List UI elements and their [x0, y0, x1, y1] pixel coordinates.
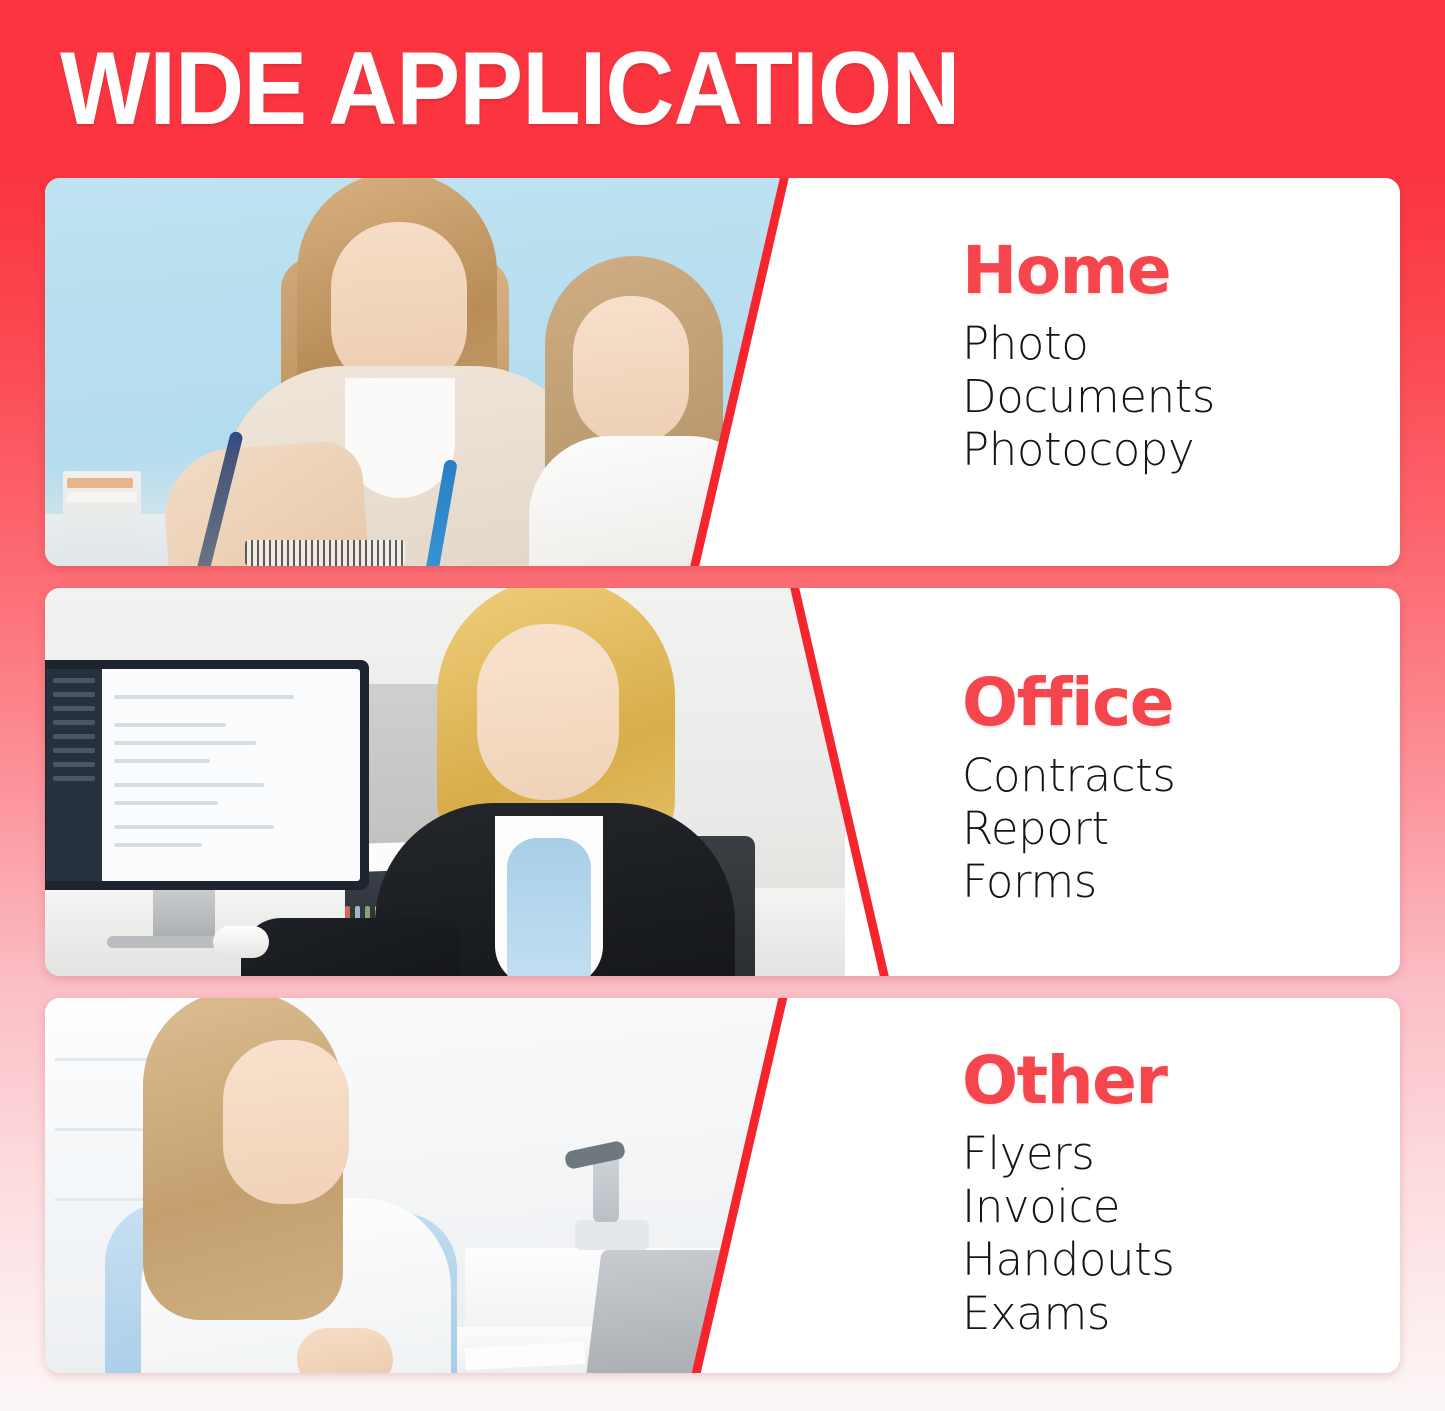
woman-bow-tie [507, 838, 591, 976]
book-icon [67, 506, 127, 516]
woman-face [223, 1040, 349, 1204]
monitor-screen [46, 669, 360, 881]
woman-face [331, 222, 467, 390]
list-item: Documents [962, 370, 1400, 423]
application-card-list: Home Photo Documents Photocopy [0, 178, 1445, 1373]
card-item-list-home: Photo Documents Photocopy [962, 317, 1400, 476]
card-item-list-other: Flyers Invoice Handouts Exams [962, 1127, 1400, 1339]
card-title-other: Other [962, 1046, 1400, 1115]
list-item: Invoice [962, 1180, 1400, 1233]
book-icon [67, 492, 137, 502]
card-photo-office [45, 588, 845, 976]
woman-arm [241, 918, 461, 976]
photo-scene-office [45, 588, 845, 976]
card-text-home: Home Photo Documents Photocopy [920, 178, 1400, 566]
book-icon [67, 478, 133, 488]
list-item: Contracts [962, 749, 1400, 802]
list-item: Photocopy [962, 423, 1400, 476]
imac-monitor [45, 660, 369, 890]
card-item-list-office: Contracts Report Forms [962, 749, 1400, 908]
microscope-base [575, 1220, 649, 1250]
application-card-office[interactable]: Office Contracts Report Forms [45, 588, 1400, 976]
woman-hands [297, 1328, 393, 1373]
application-card-other[interactable]: Other Flyers Invoice Handouts Exams [45, 998, 1400, 1373]
list-item: Forms [962, 855, 1400, 908]
list-item: Flyers [962, 1127, 1400, 1180]
monitor-stand [153, 890, 215, 942]
computer-mouse [213, 926, 269, 958]
woman-face [477, 624, 619, 800]
girl-face [573, 296, 689, 444]
card-title-home: Home [962, 236, 1400, 305]
list-item: Photo [962, 317, 1400, 370]
list-item: Exams [962, 1287, 1400, 1340]
list-item: Report [962, 802, 1400, 855]
page-title: WIDE APPLICATION [60, 37, 960, 141]
page-header: WIDE APPLICATION [0, 0, 1445, 178]
list-item: Handouts [962, 1233, 1400, 1286]
card-text-other: Other Flyers Invoice Handouts Exams [920, 998, 1400, 1373]
card-text-office: Office Contracts Report Forms [920, 588, 1400, 976]
card-title-office: Office [962, 668, 1400, 737]
notebook [245, 540, 405, 566]
application-card-home[interactable]: Home Photo Documents Photocopy [45, 178, 1400, 566]
screen-sidebar [46, 669, 102, 881]
